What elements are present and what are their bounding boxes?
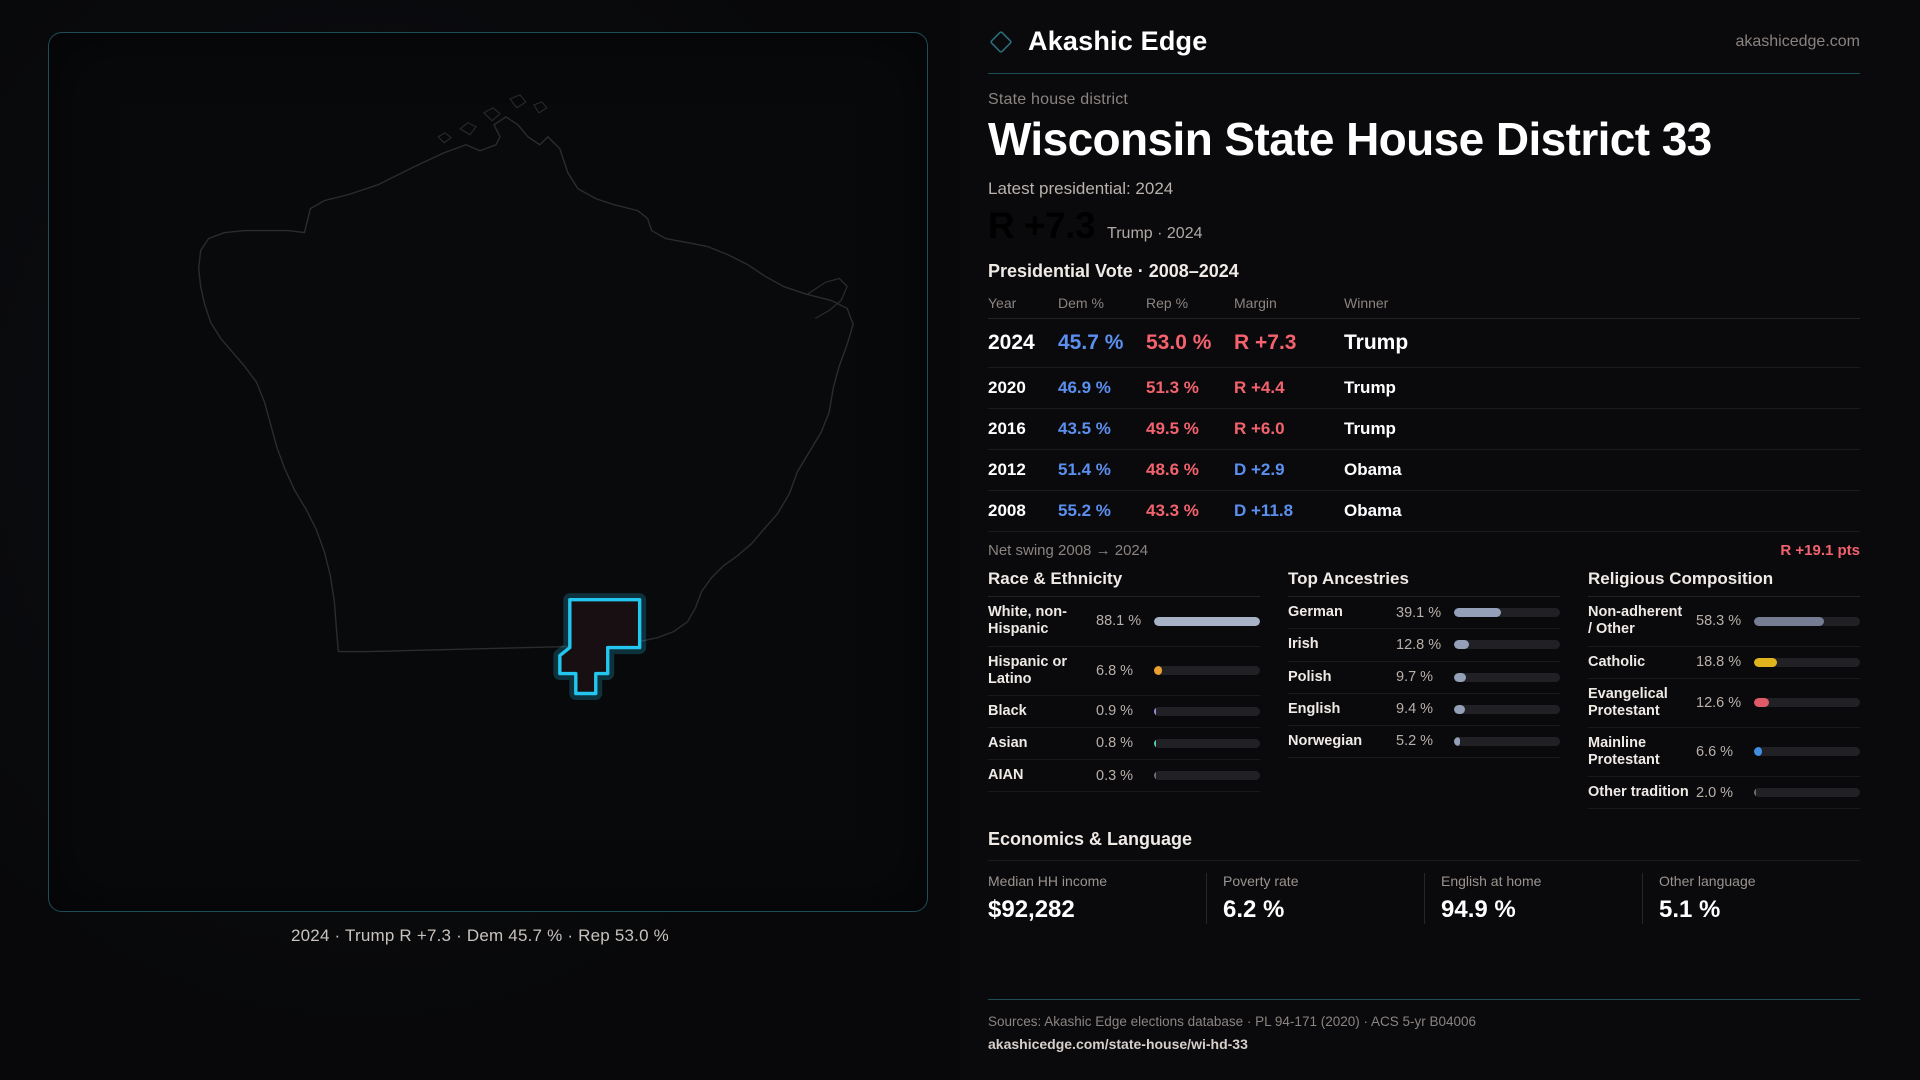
- cell-rep: 53.0 %: [1146, 319, 1234, 368]
- list-item: Other tradition2.0 %: [1588, 777, 1860, 809]
- race-ethnicity-list: White, non-Hispanic88.1 %Hispanic or Lat…: [988, 597, 1260, 792]
- demo-bar: [1154, 666, 1260, 675]
- list-item: English9.4 %: [1288, 694, 1560, 726]
- demo-label: Asian: [988, 735, 1096, 752]
- demo-bar: [1454, 608, 1560, 617]
- list-item: Polish9.7 %: [1288, 662, 1560, 694]
- list-item: Norwegian5.2 %: [1288, 726, 1560, 758]
- cell-dem: 45.7 %: [1058, 319, 1146, 368]
- table-row: 202046.9 %51.3 %R +4.4Trump: [988, 368, 1860, 409]
- demo-bar-fill: [1454, 673, 1466, 682]
- demo-label: Mainline Protestant: [1588, 735, 1696, 769]
- list-item: Asian0.8 %: [988, 728, 1260, 760]
- cell-year: 2020: [988, 368, 1058, 409]
- presidential-table-body: 202445.7 %53.0 %R +7.3Trump202046.9 %51.…: [988, 319, 1860, 532]
- demo-label: Black: [988, 703, 1096, 720]
- economics-section-title: Economics & Language: [988, 829, 1860, 850]
- table-row: 201643.5 %49.5 %R +6.0Trump: [988, 409, 1860, 450]
- demo-value: 12.8 %: [1396, 637, 1454, 653]
- net-swing-row: Net swing 2008 → 2024 R +19.1 pts: [988, 532, 1860, 563]
- headline-margin-meta: Trump · 2024: [1107, 225, 1202, 243]
- cell-year: 2008: [988, 491, 1058, 532]
- demo-bar: [1754, 617, 1860, 626]
- table-row: 202445.7 %53.0 %R +7.3Trump: [988, 319, 1860, 368]
- demo-value: 5.2 %: [1396, 733, 1454, 749]
- cell-dem: 43.5 %: [1058, 409, 1146, 450]
- demo-bar-fill: [1454, 640, 1469, 649]
- col-margin: Margin: [1234, 291, 1344, 319]
- list-item: Irish12.8 %: [1288, 629, 1560, 661]
- demo-value: 39.1 %: [1396, 605, 1454, 621]
- demo-bar: [1454, 640, 1560, 649]
- demo-bar-fill: [1454, 705, 1465, 714]
- demo-bar: [1754, 658, 1860, 667]
- cell-dem: 46.9 %: [1058, 368, 1146, 409]
- demo-label: Evangelical Protestant: [1588, 686, 1696, 720]
- religious-composition-column: Religious Composition Non-adherent / Oth…: [1588, 569, 1860, 809]
- col-dem: Dem %: [1058, 291, 1146, 319]
- cell-margin: D +11.8: [1234, 491, 1344, 532]
- demo-bar-fill: [1754, 658, 1777, 667]
- headline-margin: R +7.3 Trump · 2024: [988, 205, 1860, 247]
- list-item: Evangelical Protestant12.6 %: [1588, 679, 1860, 728]
- demo-bar-fill: [1154, 707, 1156, 716]
- religious-composition-list: Non-adherent / Other58.3 %Catholic18.8 %…: [1588, 597, 1860, 809]
- footer-slug[interactable]: akashicedge.com/state-house/wi-hd-33: [988, 1036, 1860, 1052]
- demo-value: 18.8 %: [1696, 654, 1754, 670]
- list-item: AIAN0.3 %: [988, 760, 1260, 792]
- demo-value: 0.9 %: [1096, 703, 1154, 719]
- demo-value: 6.6 %: [1696, 744, 1754, 760]
- list-item: Mainline Protestant6.6 %: [1588, 728, 1860, 777]
- table-row: 201251.4 %48.6 %D +2.9Obama: [988, 450, 1860, 491]
- demo-label: Irish: [1288, 636, 1396, 653]
- econ-stat: Poverty rate6.2 %: [1206, 873, 1424, 924]
- demo-bar: [1754, 747, 1860, 756]
- cell-year: 2012: [988, 450, 1058, 491]
- col-year: Year: [988, 291, 1058, 319]
- demo-bar-fill: [1154, 666, 1162, 675]
- econ-stat-label: Other language: [1659, 873, 1844, 889]
- latest-presidential-label: Latest presidential: 2024: [988, 179, 1860, 199]
- col-rep: Rep %: [1146, 291, 1234, 319]
- demo-value: 88.1 %: [1096, 613, 1154, 629]
- map-caption: 2024 · Trump R +7.3 · Dem 45.7 % · Rep 5…: [0, 926, 960, 946]
- demo-bar: [1754, 788, 1860, 797]
- demo-bar-fill: [1454, 737, 1460, 746]
- report-page: 2024 · Trump R +7.3 · Dem 45.7 % · Rep 5…: [0, 0, 1920, 1080]
- cell-rep: 49.5 %: [1146, 409, 1234, 450]
- map-column: 2024 · Trump R +7.3 · Dem 45.7 % · Rep 5…: [0, 0, 960, 1080]
- list-item: German39.1 %: [1288, 597, 1560, 629]
- demo-bar-fill: [1454, 608, 1501, 617]
- econ-stat: Other language5.1 %: [1642, 873, 1860, 924]
- demo-value: 6.8 %: [1096, 663, 1154, 679]
- brand-left: Akashic Edge: [988, 26, 1207, 57]
- cell-rep: 48.6 %: [1146, 450, 1234, 491]
- econ-stat-label: Poverty rate: [1223, 873, 1408, 889]
- cell-dem: 55.2 %: [1058, 491, 1146, 532]
- demo-bar-fill: [1154, 771, 1156, 780]
- econ-stat: Median HH income$92,282: [988, 873, 1206, 924]
- demo-bar: [1754, 698, 1860, 707]
- cell-winner: Obama: [1344, 491, 1860, 532]
- demo-bar-fill: [1154, 739, 1156, 748]
- demographics-grid: Race & Ethnicity White, non-Hispanic88.1…: [988, 569, 1860, 809]
- demo-bar: [1154, 771, 1260, 780]
- brand-url[interactable]: akashicedge.com: [1735, 33, 1860, 51]
- econ-stat: English at home94.9 %: [1424, 873, 1642, 924]
- state-map-svg: [49, 33, 927, 911]
- demo-value: 2.0 %: [1696, 785, 1754, 801]
- cell-dem: 51.4 %: [1058, 450, 1146, 491]
- cell-winner: Trump: [1344, 319, 1860, 368]
- demo-label: Non-adherent / Other: [1588, 604, 1696, 638]
- brand-name: Akashic Edge: [1028, 26, 1207, 57]
- demo-bar-fill: [1754, 698, 1769, 707]
- cell-year: 2016: [988, 409, 1058, 450]
- table-row: 200855.2 %43.3 %D +11.8Obama: [988, 491, 1860, 532]
- headline-margin-value: R +7.3: [988, 205, 1095, 247]
- race-ethnicity-title: Race & Ethnicity: [988, 569, 1260, 597]
- demo-bar: [1154, 739, 1260, 748]
- demo-label: Hispanic or Latino: [988, 654, 1096, 688]
- cell-winner: Obama: [1344, 450, 1860, 491]
- demo-bar: [1154, 707, 1260, 716]
- econ-stat-value: 6.2 %: [1223, 896, 1408, 924]
- demo-label: German: [1288, 604, 1396, 621]
- demo-value: 0.8 %: [1096, 735, 1154, 751]
- demo-bar: [1454, 673, 1560, 682]
- demo-label: Catholic: [1588, 654, 1696, 671]
- info-column: Akashic Edge akashicedge.com State house…: [960, 0, 1920, 1080]
- presidential-section-title: Presidential Vote · 2008–2024: [988, 261, 1860, 282]
- net-swing-label: Net swing 2008 → 2024: [988, 542, 1148, 559]
- top-ancestries-title: Top Ancestries: [1288, 569, 1560, 597]
- presidential-vote-table: Year Dem % Rep % Margin Winner 202445.7 …: [988, 291, 1860, 532]
- demo-label: White, non-Hispanic: [988, 604, 1096, 638]
- demo-bar-fill: [1154, 617, 1260, 626]
- econ-stat-value: $92,282: [988, 896, 1190, 924]
- econ-stat-value: 5.1 %: [1659, 896, 1844, 924]
- demo-bar: [1454, 737, 1560, 746]
- demo-label: AIAN: [988, 767, 1096, 784]
- demo-value: 9.7 %: [1396, 669, 1454, 685]
- top-ancestries-column: Top Ancestries German39.1 %Irish12.8 %Po…: [1288, 569, 1560, 809]
- cell-margin: R +6.0: [1234, 409, 1344, 450]
- cell-margin: R +7.3: [1234, 319, 1344, 368]
- diamond-outline-icon: [988, 29, 1014, 55]
- district-33-highlight[interactable]: [560, 600, 640, 694]
- apostle-islands-group: [438, 95, 547, 143]
- cell-winner: Trump: [1344, 409, 1860, 450]
- demo-bar-fill: [1754, 788, 1756, 797]
- table-header-row: Year Dem % Rep % Margin Winner: [988, 291, 1860, 319]
- religious-composition-title: Religious Composition: [1588, 569, 1860, 597]
- econ-stat-label: Median HH income: [988, 873, 1190, 889]
- demo-label: Other tradition: [1588, 784, 1696, 801]
- race-ethnicity-column: Race & Ethnicity White, non-Hispanic88.1…: [988, 569, 1260, 809]
- demo-value: 12.6 %: [1696, 695, 1754, 711]
- demo-label: Norwegian: [1288, 733, 1396, 750]
- page-title: Wisconsin State House District 33: [988, 115, 1860, 163]
- econ-stat-label: English at home: [1441, 873, 1626, 889]
- net-swing-value: R +19.1 pts: [1780, 542, 1860, 559]
- cell-rep: 51.3 %: [1146, 368, 1234, 409]
- list-item: Hispanic or Latino6.8 %: [988, 647, 1260, 696]
- cell-margin: D +2.9: [1234, 450, 1344, 491]
- demo-value: 58.3 %: [1696, 613, 1754, 629]
- cell-winner: Trump: [1344, 368, 1860, 409]
- demo-bar-fill: [1754, 617, 1824, 626]
- demo-label: English: [1288, 701, 1396, 718]
- demo-bar: [1154, 617, 1260, 626]
- footer: Sources: Akashic Edge elections database…: [988, 999, 1860, 1052]
- demo-bar-fill: [1754, 747, 1762, 756]
- econ-stat-value: 94.9 %: [1441, 896, 1626, 924]
- map-frame[interactable]: [48, 32, 928, 912]
- demo-value: 9.4 %: [1396, 701, 1454, 717]
- cell-rep: 43.3 %: [1146, 491, 1234, 532]
- list-item: Catholic18.8 %: [1588, 647, 1860, 679]
- demo-value: 0.3 %: [1096, 768, 1154, 784]
- col-winner: Winner: [1344, 291, 1860, 319]
- list-item: Black0.9 %: [988, 696, 1260, 728]
- economics-grid: Median HH income$92,282Poverty rate6.2 %…: [988, 860, 1860, 924]
- top-ancestries-list: German39.1 %Irish12.8 %Polish9.7 %Englis…: [1288, 597, 1560, 758]
- demo-bar: [1454, 705, 1560, 714]
- page-eyebrow: State house district: [988, 91, 1860, 109]
- demo-label: Polish: [1288, 669, 1396, 686]
- list-item: White, non-Hispanic88.1 %: [988, 597, 1260, 646]
- cell-margin: R +4.4: [1234, 368, 1344, 409]
- cell-year: 2024: [988, 319, 1058, 368]
- brand-bar: Akashic Edge akashicedge.com: [988, 26, 1860, 74]
- footer-sources: Sources: Akashic Edge elections database…: [988, 1012, 1860, 1033]
- list-item: Non-adherent / Other58.3 %: [1588, 597, 1860, 646]
- wisconsin-outline-path: [199, 117, 854, 652]
